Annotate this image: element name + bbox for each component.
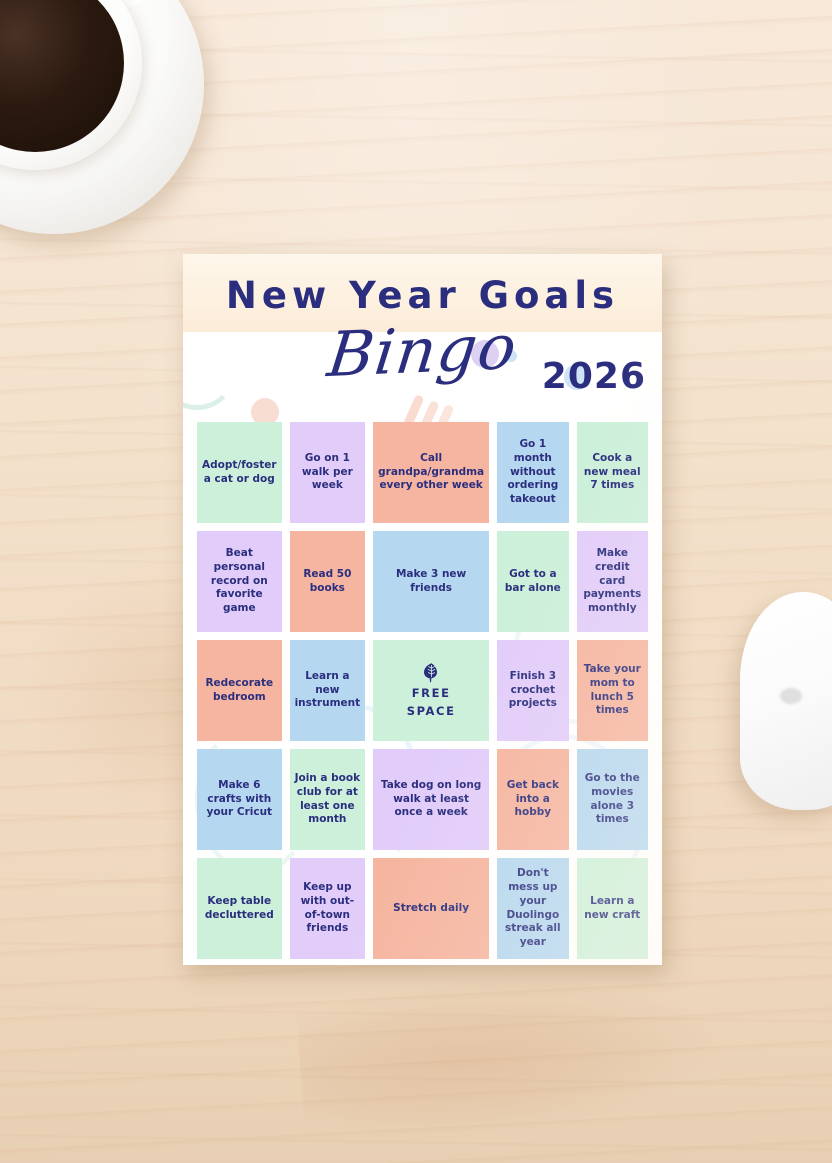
bingo-cell-text: Got to a bar alone <box>502 568 563 596</box>
free-space-label-2: SPACE <box>407 705 456 719</box>
bingo-cell-text: Make 3 new friends <box>378 568 484 596</box>
bingo-cell[interactable]: Keep up with out-of-town friends <box>290 858 366 959</box>
bingo-cell-text: Redecorate bedroom <box>202 677 277 705</box>
bingo-cell-text: Go on 1 walk per week <box>295 452 361 494</box>
bingo-cell[interactable]: Make 3 new friends <box>373 531 489 632</box>
bingo-cell-text: Keep table decluttered <box>202 895 277 923</box>
bingo-cell[interactable]: Make credit card payments monthly <box>577 531 648 632</box>
bingo-cell-text: Make credit card payments monthly <box>582 547 643 616</box>
mouse-highlight <box>780 688 802 704</box>
bingo-cell-text: Adopt/foster a cat or dog <box>202 459 277 487</box>
bingo-cell[interactable]: Cook a new meal 7 times <box>577 422 648 523</box>
bingo-cell-text: Don't mess up your Duolingo streak all y… <box>502 867 563 950</box>
bingo-cell[interactable]: Got to a bar alone <box>497 531 568 632</box>
bingo-cell-text: Stretch daily <box>393 902 469 916</box>
bingo-cell[interactable]: Learn a new instrument <box>290 640 366 741</box>
bingo-cell[interactable]: Stretch daily <box>373 858 489 959</box>
bingo-cell-text: Go to the movies alone 3 times <box>582 772 643 827</box>
coffee-cup <box>0 0 234 234</box>
bingo-cell[interactable]: Adopt/foster a cat or dog <box>197 422 282 523</box>
bingo-cell-text: Take your mom to lunch 5 times <box>582 663 643 718</box>
bingo-cell[interactable]: Take dog on long walk at least once a we… <box>373 749 489 850</box>
bingo-cell-text: Learn a new craft <box>582 895 643 923</box>
bingo-cell-text: Finish 3 crochet projects <box>502 670 563 712</box>
leaf-icon <box>423 662 440 683</box>
bingo-cell[interactable]: Read 50 books <box>290 531 366 632</box>
bingo-cell[interactable]: Go 1 month without ordering takeout <box>497 422 568 523</box>
bingo-cell[interactable]: Go to the movies alone 3 times <box>577 749 648 850</box>
bingo-cell[interactable]: Learn a new craft <box>577 858 648 959</box>
bingo-cell[interactable]: Redecorate bedroom <box>197 640 282 741</box>
bingo-cell-free-space[interactable]: FREESPACE <box>373 640 489 741</box>
bingo-card: New Year Goals Bingo 2026 Adopt/foster a… <box>183 254 662 965</box>
bingo-cell[interactable]: Don't mess up your Duolingo streak all y… <box>497 858 568 959</box>
bingo-cell[interactable]: Get back into a hobby <box>497 749 568 850</box>
computer-mouse <box>740 592 832 810</box>
bingo-cell-text: Keep up with out-of-town friends <box>295 881 361 936</box>
bingo-cell-text: Join a book club for at least one month <box>295 772 361 827</box>
bingo-cell-text: Go 1 month without ordering takeout <box>502 438 563 507</box>
bingo-cell[interactable]: Make 6 crafts with your Cricut <box>197 749 282 850</box>
bingo-cell[interactable]: Finish 3 crochet projects <box>497 640 568 741</box>
bingo-cell[interactable]: Call grandpa/grandma every other week <box>373 422 489 523</box>
bingo-cell-text: Make 6 crafts with your Cricut <box>202 779 277 821</box>
year-label: 2026 <box>542 356 646 397</box>
bingo-cell[interactable]: Beat personal record on favorite game <box>197 531 282 632</box>
free-space-label: FREE <box>412 687 451 701</box>
bingo-cell-text: Learn a new instrument <box>295 670 361 712</box>
bingo-cell[interactable]: Take your mom to lunch 5 times <box>577 640 648 741</box>
bingo-cell-text: Beat personal record on favorite game <box>202 547 277 616</box>
bingo-cell-text: Cook a new meal 7 times <box>582 452 643 494</box>
bingo-cell[interactable]: Go on 1 walk per week <box>290 422 366 523</box>
bingo-cell-text: Get back into a hobby <box>502 779 563 821</box>
bingo-cell-text: Take dog on long walk at least once a we… <box>378 779 484 821</box>
bingo-cell[interactable]: Keep table decluttered <box>197 858 282 959</box>
bingo-grid: Adopt/foster a cat or dogGo on 1 walk pe… <box>197 422 648 959</box>
bingo-cell[interactable]: Join a book club for at least one month <box>290 749 366 850</box>
bingo-cell-text: Call grandpa/grandma every other week <box>378 452 484 494</box>
bingo-cell-text: Read 50 books <box>295 568 361 596</box>
